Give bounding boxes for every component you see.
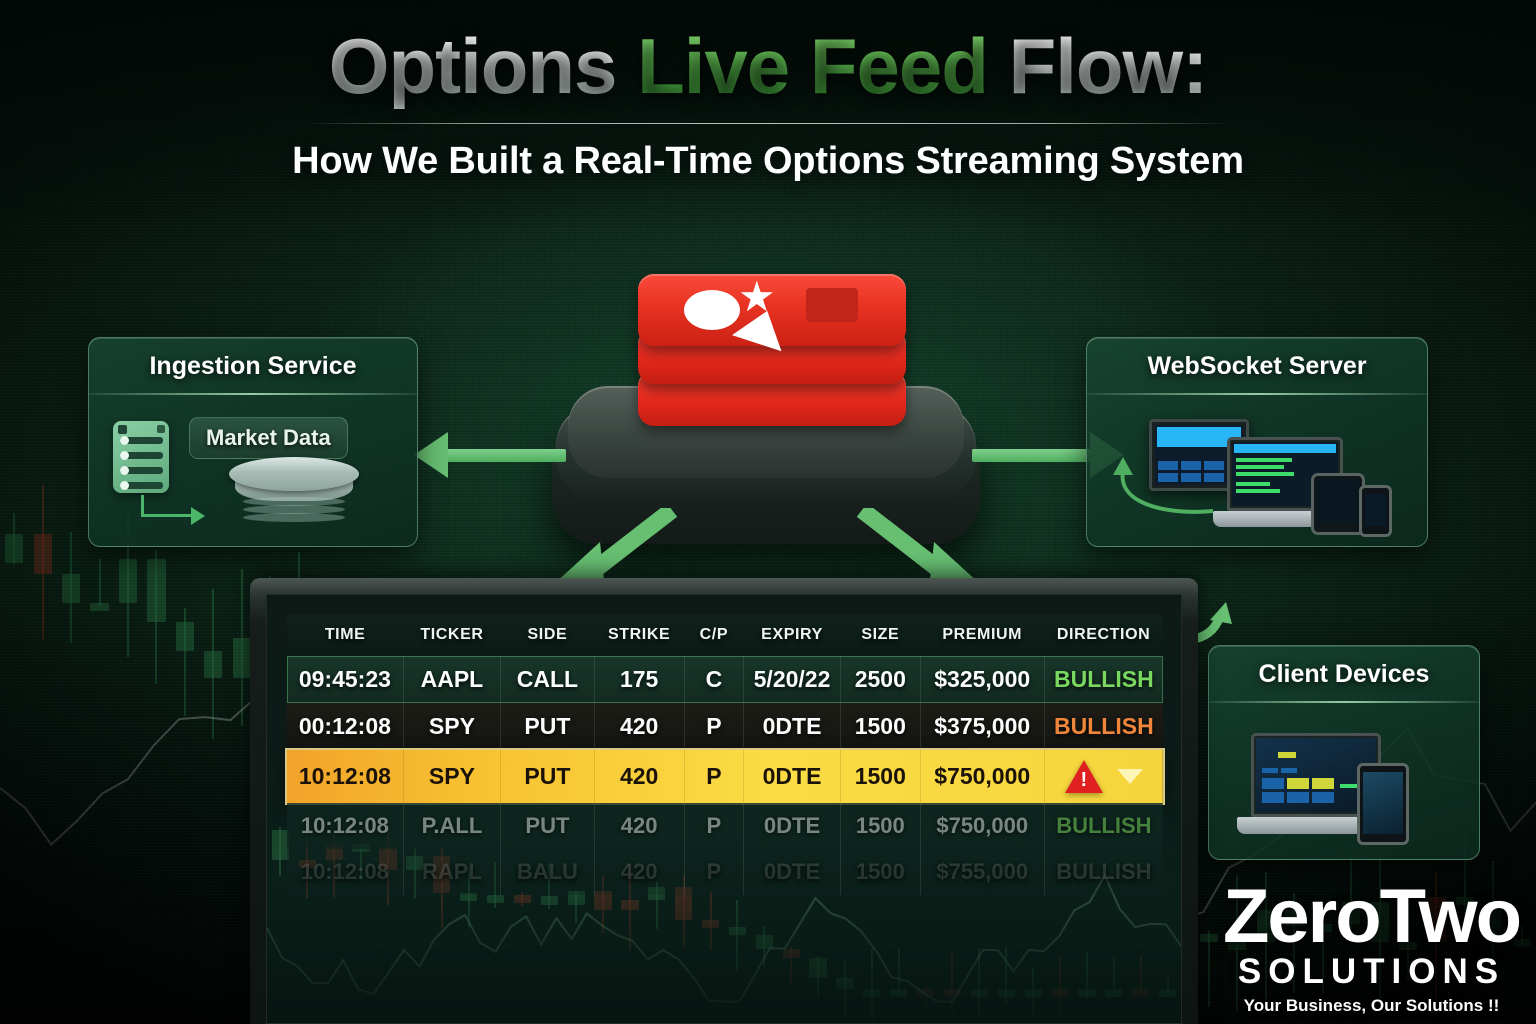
cell-direction: BULLISH [1044,803,1163,849]
cell-size: 1500 [840,849,920,895]
cell-cp: P [684,750,744,803]
cell-size: 1500 [840,803,920,849]
cell-ticker: P.ALL [403,803,500,849]
title-part-1: Options [329,22,617,110]
warning-icon[interactable]: ! [1065,760,1103,793]
table-row[interactable]: 00:12:08 SPY PUT 420 P 0DTE 1500 $375,00… [287,703,1163,750]
cell-size: 1500 [840,703,920,750]
database-icon [229,457,359,523]
panel-client-devices[interactable]: Client Devices [1208,645,1480,860]
table-row-highlighted[interactable]: 10:12:08 SPY PUT 420 P 0DTE 1500 $750,00… [287,750,1163,803]
cell-side: CALL [501,656,595,703]
cell-cp: P [684,803,744,849]
cell-size: 1500 [840,750,920,803]
options-flow-table[interactable]: TIME TICKER SIDE STRIKE C/P EXPIRY SIZE … [287,615,1163,895]
cell-expiry: 0DTE [744,849,841,895]
panel-websocket-body [1087,395,1427,547]
cell-expiry: 0DTE [744,750,841,803]
client-phone-icon [1357,763,1409,845]
tablet-icon [1311,473,1365,535]
col-side[interactable]: SIDE [501,615,595,656]
cell-cp: P [684,703,744,750]
title-part-2: Live Feed [637,22,988,110]
chevron-down-icon[interactable] [1117,769,1143,784]
cell-premium: $325,000 [920,656,1044,703]
ingest-flow-arrow-icon [141,495,211,521]
cell-time: 10:12:08 [287,849,403,895]
page-subtitle: How We Built a Real-Time Options Streami… [0,140,1536,183]
cell-strike: 420 [594,803,684,849]
cell-cp: C [684,656,744,703]
cell-ticker: SPY [403,703,500,750]
phone-icon [1359,485,1392,537]
cell-strike: 175 [594,656,684,703]
header: Options Live Feed Flow: How We Built a R… [0,26,1536,183]
cell-premium: $375,000 [920,703,1044,750]
col-direction[interactable]: DIRECTION [1044,615,1163,656]
table-row[interactable]: 10:12:08 P.ALL PUT 420 P 0DTE 1500 $750,… [287,803,1163,849]
cell-side: PUT [501,703,595,750]
col-premium[interactable]: PREMIUM [920,615,1044,656]
page-title: Options Live Feed Flow: [0,26,1536,107]
cell-expiry: 5/20/22 [744,656,841,703]
cell-direction: BULLISH [1044,703,1163,750]
cell-time: 09:45:23 [287,656,403,703]
arrow-to-feed-table-left [548,508,678,586]
cell-size: 2500 [840,656,920,703]
cell-time: 10:12:08 [287,750,403,803]
table-row[interactable]: 09:45:23 AAPL CALL 175 C 5/20/22 2500 $3… [287,656,1163,703]
logo-tagline: Your Business, Our Solutions !! [1223,996,1520,1016]
panel-ingestion-title: Ingestion Service [89,338,417,393]
cell-time: 00:12:08 [287,703,403,750]
table-body: 09:45:23 AAPL CALL 175 C 5/20/22 2500 $3… [287,656,1163,895]
feed-monitor: TIME TICKER SIDE STRIKE C/P EXPIRY SIZE … [250,578,1198,1024]
cell-expiry: 0DTE [744,703,841,750]
col-cp[interactable]: C/P [684,615,744,656]
cell-ticker: AAPL [403,656,500,703]
warning-glyph: ! [1080,770,1088,790]
col-expiry[interactable]: EXPIRY [744,615,841,656]
logo-subtitle: SOLUTIONS [1223,954,1520,989]
panel-clients-body [1209,703,1479,860]
panel-websocket-title: WebSocket Server [1087,338,1427,393]
panel-ingestion-body: Market Data [89,395,417,547]
brand-logo: ZeroTwo SOLUTIONS Your Business, Our Sol… [1223,882,1520,1016]
arrow-to-ingestion [414,432,564,478]
document-checklist-icon [113,421,169,493]
title-part-3: Flow: [1009,22,1208,110]
cell-strike: 420 [594,703,684,750]
cell-direction: BULLISH [1044,656,1163,703]
feed-screen: TIME TICKER SIDE STRIKE C/P EXPIRY SIZE … [266,594,1182,1024]
panel-ingestion-service[interactable]: Ingestion Service Market Data [88,337,418,547]
cell-premium: $750,000 [920,750,1044,803]
cell-time: 10:12:08 [287,803,403,849]
cell-cp: P [684,849,744,895]
cell-expiry: 0DTE [744,803,841,849]
col-time[interactable]: TIME [287,615,403,656]
cell-premium: $755,000 [920,849,1044,895]
title-divider [303,123,1233,124]
market-data-badge[interactable]: Market Data [189,417,348,459]
table-row[interactable]: 10:12:08 RAPL BALU 420 P 0DTE 1500 $755,… [287,849,1163,895]
arrow-to-feed-table-right [856,508,986,586]
panel-websocket-server[interactable]: WebSocket Server [1086,337,1428,547]
cell-side: PUT [501,803,595,849]
col-ticker[interactable]: TICKER [403,615,500,656]
cell-direction: BULLISH [1044,849,1163,895]
col-size[interactable]: SIZE [840,615,920,656]
cell-side: PUT [501,750,595,803]
cell-strike: 420 [594,750,684,803]
table-header-row: TIME TICKER SIDE STRIKE C/P EXPIRY SIZE … [287,615,1163,656]
cell-alert[interactable]: ! [1044,750,1163,803]
redis-logo-icon: ★ [638,266,906,466]
cell-side: BALU [501,849,595,895]
cell-ticker: SPY [403,750,500,803]
cell-ticker: RAPL [403,849,500,895]
infographic-canvas: Options Live Feed Flow: How We Built a R… [0,0,1536,1024]
data-flow-curve-arrow-icon [1109,453,1219,515]
table-header: TIME TICKER SIDE STRIKE C/P EXPIRY SIZE … [287,615,1163,656]
cell-premium: $750,000 [920,803,1044,849]
logo-name: ZeroTwo [1223,882,1520,952]
panel-clients-title: Client Devices [1209,646,1479,701]
col-strike[interactable]: STRIKE [594,615,684,656]
cell-strike: 420 [594,849,684,895]
